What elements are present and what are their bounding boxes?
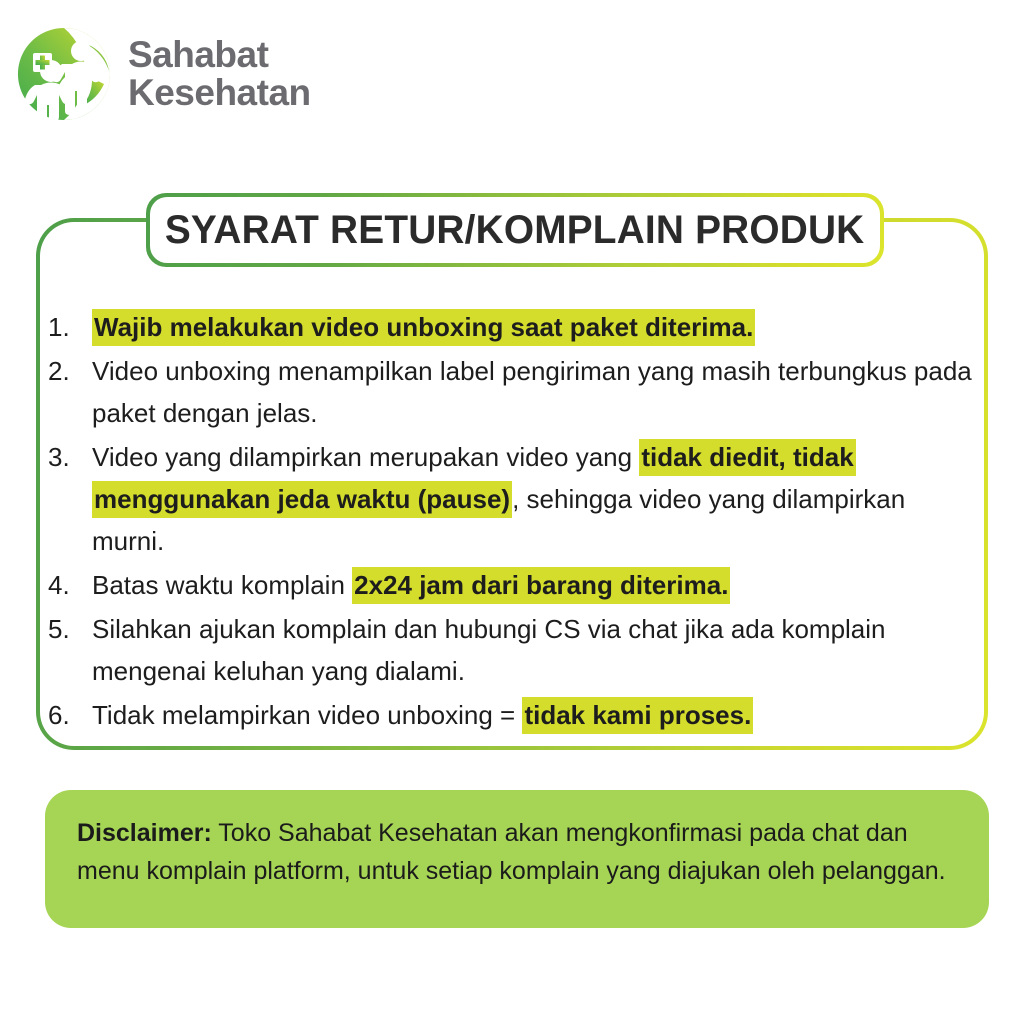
disclaimer-box: Disclaimer: Toko Sahabat Kesehatan akan … [45,790,989,928]
list-item-number: 2. [46,350,92,392]
highlighted-text: Wajib melakukan video unboxing saat pake… [92,309,755,346]
card-title-pill-inner: SYARAT RETUR/KOMPLAIN PRODUK [150,197,880,263]
list-item: 3.Video yang dilampirkan merupakan video… [46,436,992,562]
list-item-number: 1. [46,306,92,348]
list-item-text: Silahkan ajukan komplain dan hubungi CS … [92,608,992,692]
list-item: 2.Video unboxing menampilkan label pengi… [46,350,992,434]
sahabat-kesehatan-logo-icon [14,24,114,124]
list-item-number: 3. [46,436,92,478]
requirements-list: 1.Wajib melakukan video unboxing saat pa… [46,306,992,738]
list-item: 4.Batas waktu komplain 2x24 jam dari bar… [46,564,992,606]
disclaimer-lead: Disclaimer: [77,819,212,847]
brand-logo: Sahabat Kesehatan [14,24,311,124]
plain-text: Batas waktu komplain [92,570,352,600]
highlighted-text: 2x24 jam dari barang diterima. [352,567,730,604]
list-item-number: 4. [46,564,92,606]
plain-text: Video yang dilampirkan merupakan video y… [92,442,639,472]
plain-text: Tidak melampirkan video unboxing = [92,700,522,730]
plain-text: Silahkan ajukan komplain dan hubungi CS … [92,614,886,686]
brand-name-line1: Sahabat [128,36,311,74]
list-item-number: 5. [46,608,92,650]
plain-text: Video unboxing menampilkan label pengiri… [92,356,972,428]
disclaimer-text: Disclaimer: Toko Sahabat Kesehatan akan … [77,814,959,890]
page-title: SYARAT RETUR/KOMPLAIN PRODUK [165,208,865,253]
brand-name: Sahabat Kesehatan [128,36,311,111]
list-item: 1.Wajib melakukan video unboxing saat pa… [46,306,992,348]
list-item-text: Video yang dilampirkan merupakan video y… [92,436,992,562]
list-item-number: 6. [46,694,92,736]
list-item-text: Batas waktu komplain 2x24 jam dari baran… [92,564,992,606]
list-item-text: Tidak melampirkan video unboxing = tidak… [92,694,992,736]
list-item-text: Video unboxing menampilkan label pengiri… [92,350,992,434]
list-item: 5.Silahkan ajukan komplain dan hubungi C… [46,608,992,692]
highlighted-text: tidak kami proses. [522,697,753,734]
card-title-pill: SYARAT RETUR/KOMPLAIN PRODUK [146,193,884,267]
list-item-text: Wajib melakukan video unboxing saat pake… [92,306,992,348]
list-item: 6.Tidak melampirkan video unboxing = tid… [46,694,992,736]
brand-name-line2: Kesehatan [128,74,311,112]
